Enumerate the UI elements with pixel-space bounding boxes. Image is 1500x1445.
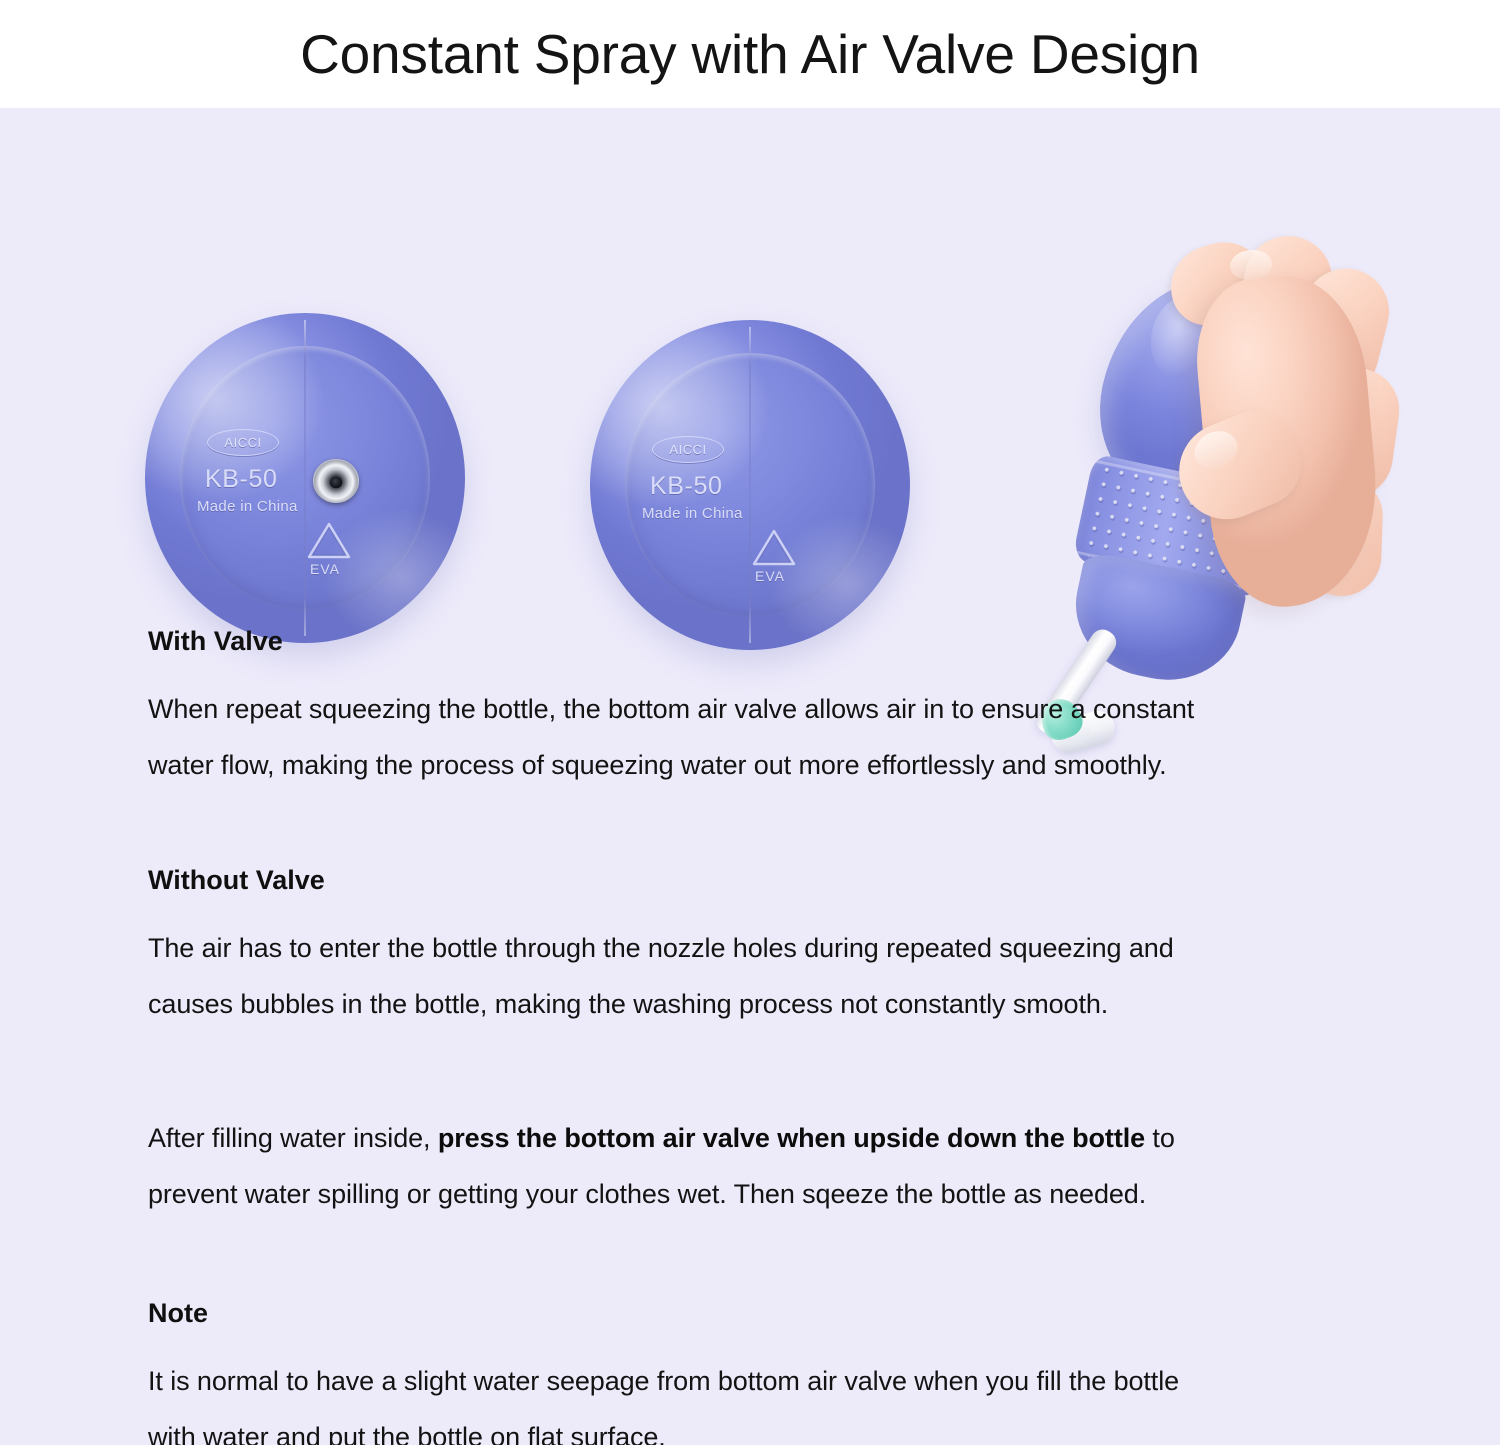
bottle-cap-with-valve-image: AICCI KB-50 Made in China EVA: [145, 313, 465, 643]
body-line: with water and put the bottle on flat su…: [148, 1409, 1388, 1445]
infographic-page: Constant Spray with Air Valve Design AIC…: [0, 0, 1500, 1445]
section-body: The air has to enter the bottle through …: [148, 920, 1388, 1032]
page-title: Constant Spray with Air Valve Design: [300, 27, 1200, 82]
section-without-valve: Without Valve The air has to enter the b…: [148, 867, 1388, 1032]
cap-inner-disc: [625, 353, 875, 617]
instruction-line-2: prevent water spilling or getting your c…: [148, 1166, 1388, 1222]
instruction-prefix: After filling water inside,: [148, 1123, 438, 1153]
air-valve-icon: [313, 459, 359, 503]
body-line: It is normal to have a slight water seep…: [148, 1353, 1388, 1409]
hand: [1126, 236, 1426, 686]
section-body: When repeat squeezing the bottle, the bo…: [148, 681, 1388, 793]
note-body: It is normal to have a slight water seep…: [148, 1353, 1388, 1445]
description-content: With Valve When repeat squeezing the bot…: [148, 628, 1388, 1445]
body-line: water flow, making the process of squeez…: [148, 737, 1388, 793]
instruction-suffix: to: [1145, 1123, 1175, 1153]
main-panel: AICCI KB-50 Made in China EVA: [0, 108, 1500, 1445]
cap-inner-disc: [180, 346, 430, 610]
spacer: [148, 793, 1388, 867]
instruction-line-1: After filling water inside, press the bo…: [148, 1110, 1388, 1166]
bottle-cap-without-valve-image: AICCI KB-50 Made in China EVA: [590, 320, 910, 650]
brand-name: AICCI: [669, 442, 706, 457]
section-note: Note It is normal to have a slight water…: [148, 1300, 1388, 1445]
section-with-valve: With Valve When repeat squeezing the bot…: [148, 628, 1388, 793]
brand-logo-oval: AICCI: [207, 429, 279, 456]
body-line: When repeat squeezing the bottle, the bo…: [148, 681, 1388, 737]
section-instruction: After filling water inside, press the bo…: [148, 1110, 1388, 1222]
product-photo-area: AICCI KB-50 Made in China EVA: [0, 108, 1500, 628]
note-heading: Note: [148, 1300, 1388, 1327]
body-line: The air has to enter the bottle through …: [148, 920, 1388, 976]
brand-name: AICCI: [224, 435, 261, 450]
instruction-bold-phrase: press the bottom air valve when upside d…: [438, 1123, 1145, 1153]
spacer: [148, 1032, 1388, 1110]
body-line: causes bubbles in the bottle, making the…: [148, 976, 1388, 1032]
section-heading: With Valve: [148, 628, 1388, 655]
instruction-body: After filling water inside, press the bo…: [148, 1110, 1388, 1222]
header-band: Constant Spray with Air Valve Design: [0, 0, 1500, 108]
section-heading: Without Valve: [148, 867, 1388, 894]
spacer: [148, 1222, 1388, 1300]
brand-logo-oval: AICCI: [652, 436, 724, 463]
